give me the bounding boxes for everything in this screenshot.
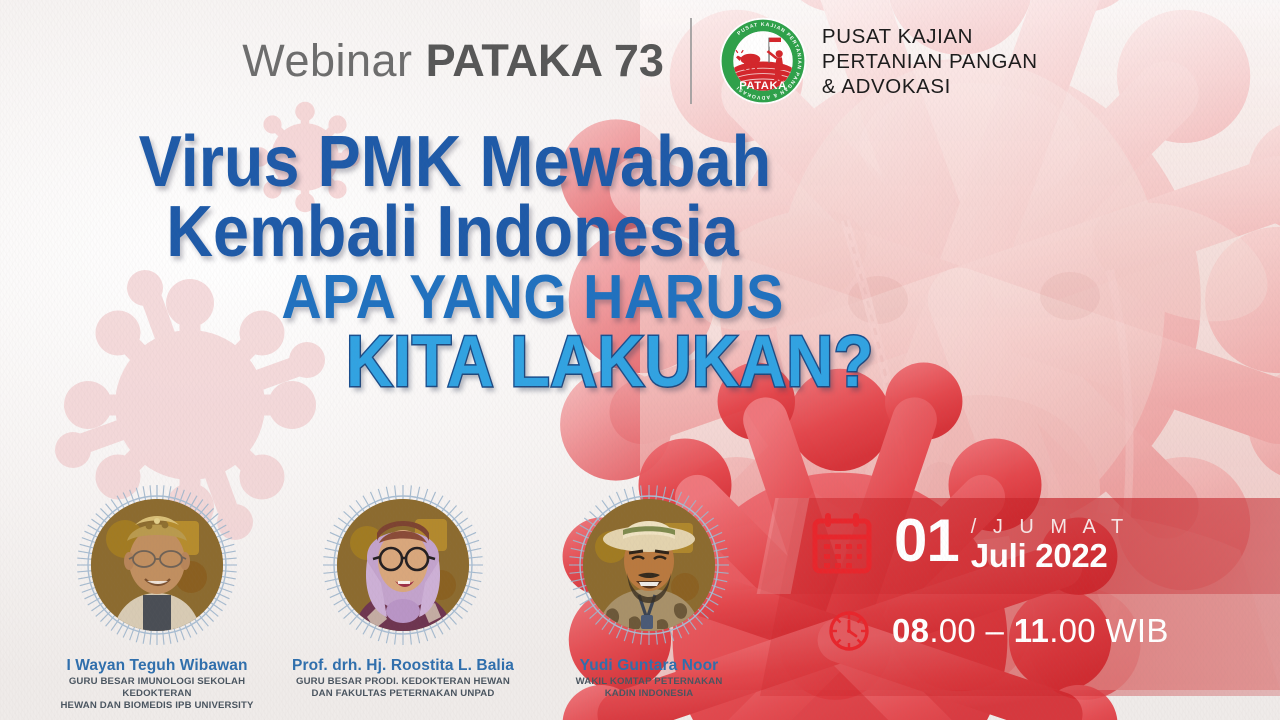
background-texture-overlay	[0, 0, 1280, 720]
webinar-poster: Webinar PATAKA 73	[0, 0, 1280, 720]
